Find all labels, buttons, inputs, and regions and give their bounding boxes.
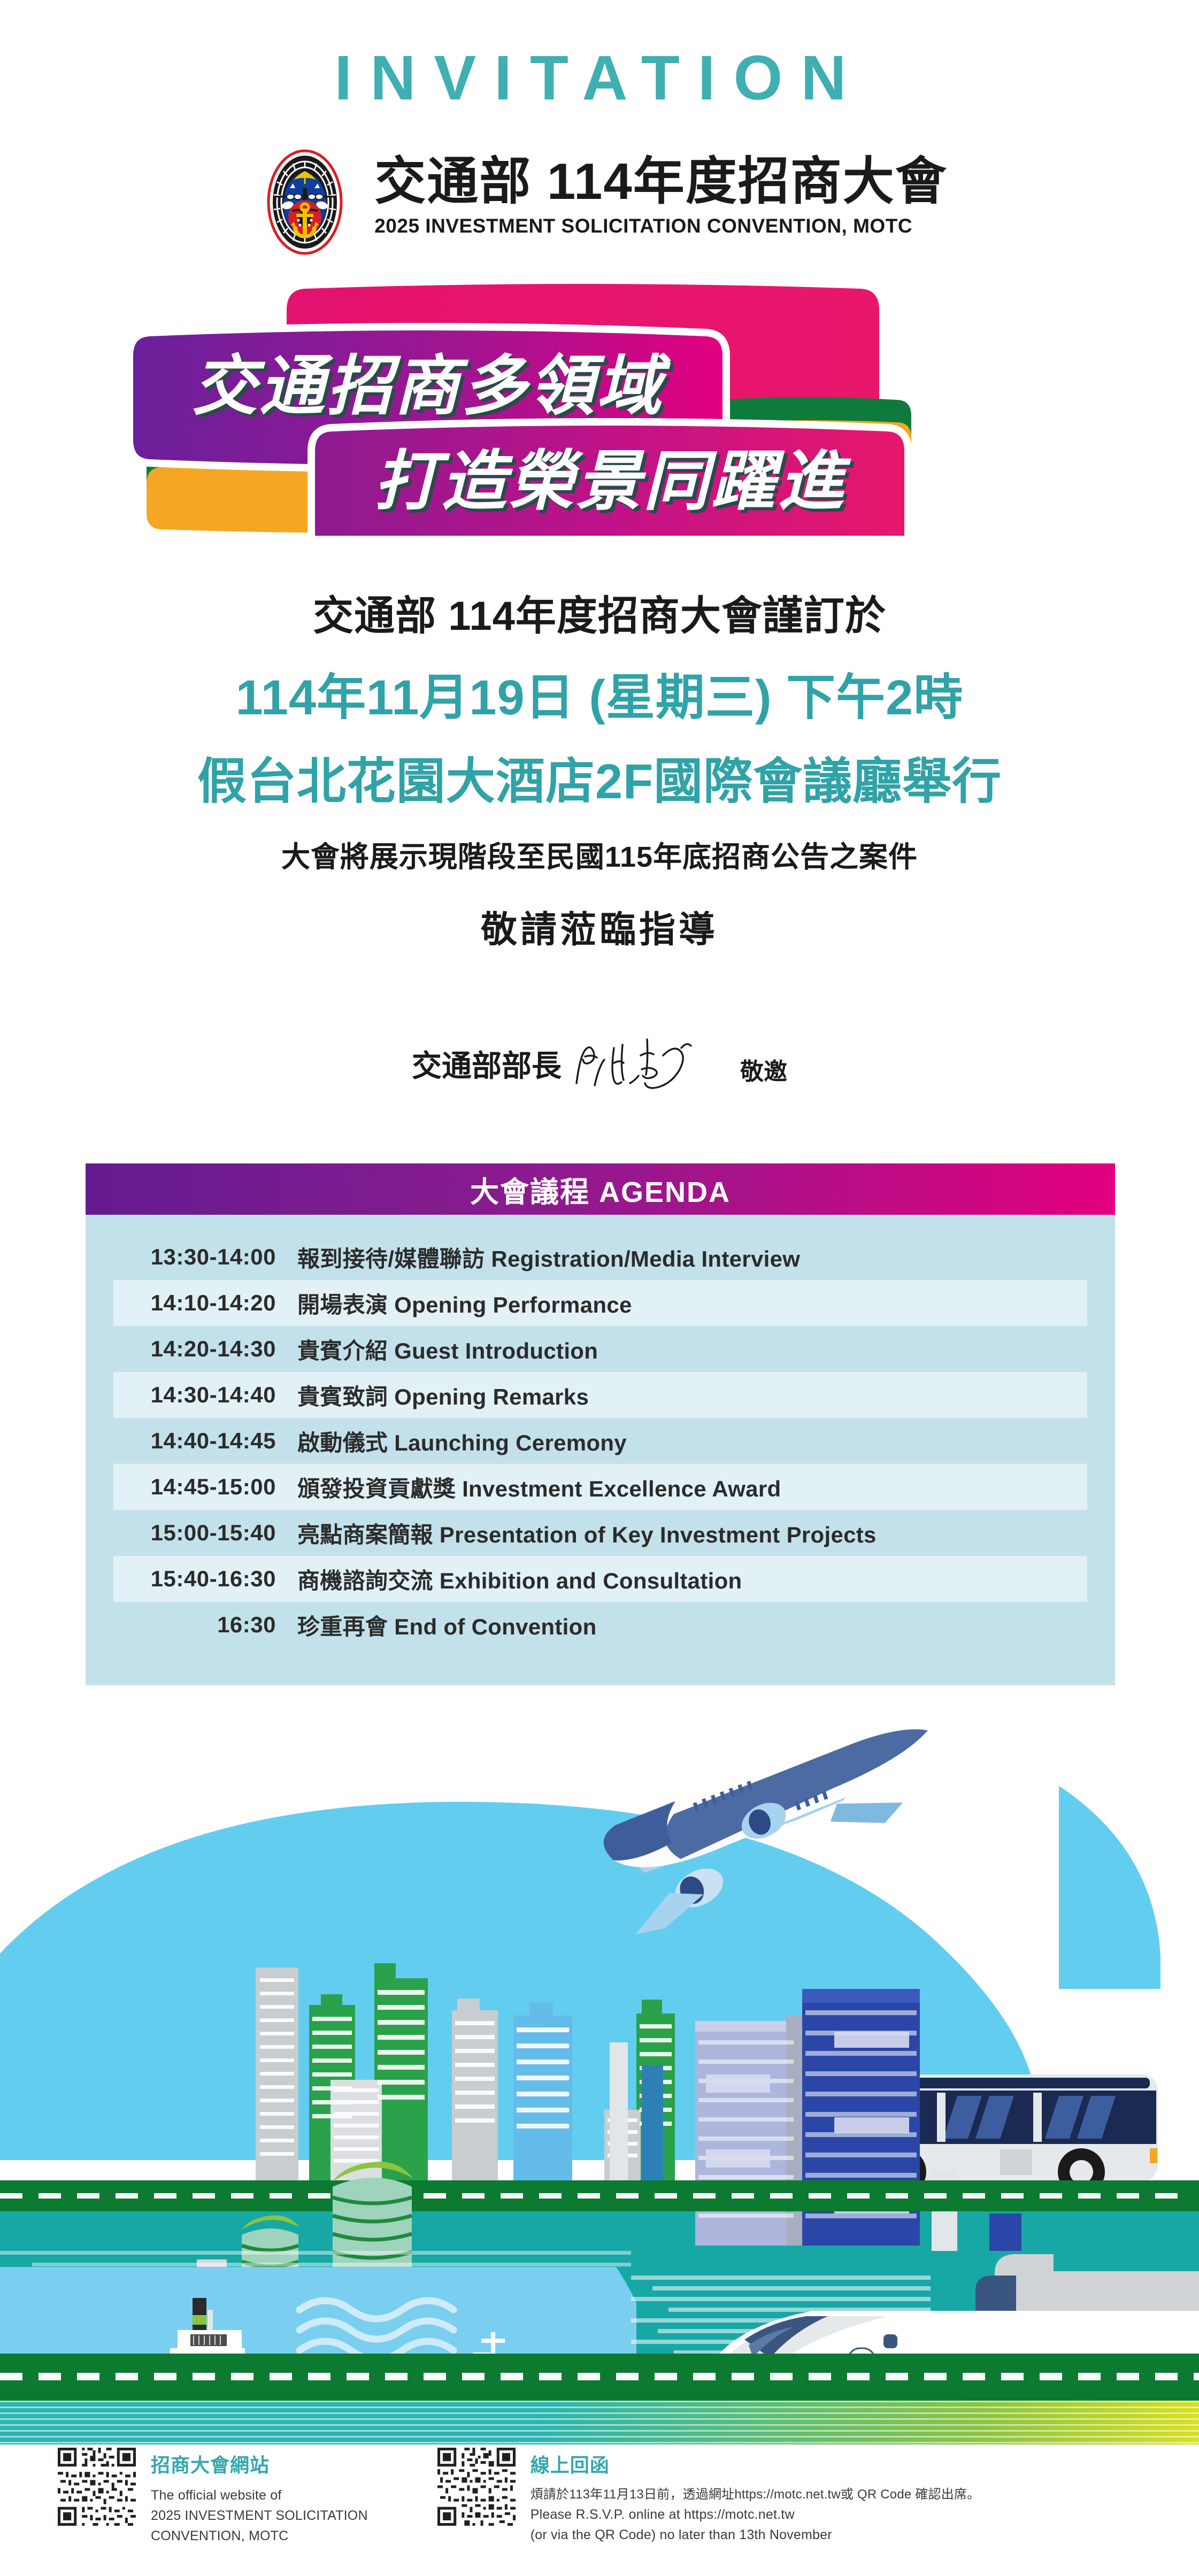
agenda-time: 13:30-14:00 bbox=[86, 1244, 297, 1270]
agenda-desc: 頒發投資貢獻獎 Investment Excellence Award bbox=[297, 1471, 781, 1503]
agenda-row: 14:10-14:20 開場表演 Opening Performance bbox=[113, 1280, 1087, 1326]
agenda-row: 14:30-14:40 貴賓致詞 Opening Remarks bbox=[113, 1372, 1087, 1418]
motc-emblem-icon bbox=[251, 149, 358, 256]
event-welcome: 敬請蒞臨指導 bbox=[0, 900, 1199, 953]
invitation-heading: INVITATION bbox=[0, 42, 1199, 114]
footer-website-line: 2025 INVESTMENT SOLICITATION bbox=[151, 2505, 368, 2526]
minister-signature-block: 交通部部長 敬邀 bbox=[0, 1032, 1199, 1091]
agenda-desc: 報到接待/媒體聯訪 Registration/Media Interview bbox=[297, 1241, 800, 1274]
agenda-row: 16:30 珍重再會 End of Convention bbox=[86, 1602, 1115, 1648]
footer-rsvp-line: 煩請於113年11月13日前，透過網址https://motc.net.tw或 … bbox=[531, 2485, 980, 2504]
agenda-desc: 啟動儀式 Launching Ceremony bbox=[297, 1425, 627, 1457]
org-title: 交通部 114年度招商大會 bbox=[374, 156, 948, 207]
organization-header: 交通部 114年度招商大會 2025 INVESTMENT SOLICITATI… bbox=[0, 149, 1199, 256]
agenda-list: 13:30-14:00 報到接待/媒體聯訪 Registration/Media… bbox=[86, 1215, 1115, 1685]
signature-label: 交通部部長 bbox=[412, 1042, 562, 1091]
event-datetime: 114年11月19日 (星期三) 下午2時 bbox=[0, 658, 1199, 729]
agenda-row: 13:30-14:00 報到接待/媒體聯訪 Registration/Media… bbox=[86, 1234, 1115, 1280]
agenda-desc: 商機諮詢交流 Exhibition and Consultation bbox=[297, 1563, 742, 1595]
event-details: 交通部 114年度招商大會謹訂於 114年11月19日 (星期三) 下午2時 假… bbox=[0, 583, 1199, 953]
slogan-banner: 交通招商多領域 交通招商多領域 打造榮景同躍進 打造榮景同躍進 bbox=[0, 279, 1199, 536]
handwritten-signature-icon bbox=[567, 1032, 727, 1091]
footer-rsvp-line: Please R.S.V.P. online at https://motc.n… bbox=[531, 2504, 980, 2525]
event-intro-line: 交通部 114年度招商大會謹訂於 bbox=[0, 583, 1199, 642]
agenda-desc: 貴賓介紹 Guest Introduction bbox=[297, 1333, 598, 1366]
footer-rsvp-block: 線上回函 煩請於113年11月13日前，透過網址https://motc.net… bbox=[437, 2448, 980, 2546]
agenda-row: 14:40-14:45 啟動儀式 Launching Ceremony bbox=[86, 1418, 1115, 1464]
svg-text:打造榮景同躍進: 打造榮景同躍進 bbox=[374, 445, 851, 518]
footer-website-block: 招商大會網站 The official website of 2025 INVE… bbox=[58, 2448, 368, 2546]
agenda-time: 15:40-16:30 bbox=[113, 1566, 297, 1592]
footer-rsvp-title: 線上回函 bbox=[531, 2450, 980, 2478]
footer-website-line: CONVENTION, MOTC bbox=[151, 2526, 368, 2546]
agenda-title: 大會議程 AGENDA bbox=[470, 1168, 731, 1210]
agenda-desc: 貴賓致詞 Opening Remarks bbox=[297, 1379, 589, 1412]
agenda-row: 14:45-15:00 頒發投資貢獻獎 Investment Excellenc… bbox=[113, 1464, 1087, 1510]
transport-illustration bbox=[0, 1700, 1199, 2401]
footer-website-line: The official website of bbox=[151, 2485, 368, 2505]
agenda-time: 15:00-15:40 bbox=[86, 1520, 297, 1546]
footer-rsvp-line: (or via the QR Code) no later than 13th … bbox=[531, 2525, 980, 2545]
event-note: 大會將展示現階段至民國115年底招商公告之案件 bbox=[0, 833, 1199, 875]
signature-suffix: 敬邀 bbox=[740, 1052, 787, 1091]
org-subtitle: 2025 INVESTMENT SOLICITATION CONVENTION,… bbox=[374, 215, 948, 237]
event-venue: 假台北花園大酒店2F國際會議廳舉行 bbox=[0, 742, 1199, 813]
agenda-header: 大會議程 AGENDA bbox=[86, 1163, 1115, 1215]
agenda-time: 14:20-14:30 bbox=[86, 1336, 297, 1362]
agenda-time: 14:10-14:20 bbox=[113, 1290, 297, 1316]
footer: 招商大會網站 The official website of 2025 INVE… bbox=[0, 2448, 1199, 2546]
agenda-time: 16:30 bbox=[86, 1612, 297, 1638]
agenda-desc: 開場表演 Opening Performance bbox=[297, 1287, 632, 1320]
road-dashes bbox=[0, 2373, 1199, 2380]
bottom-band-lines bbox=[0, 2401, 1199, 2444]
agenda-row: 14:20-14:30 貴賓介紹 Guest Introduction bbox=[86, 1326, 1115, 1372]
rsvp-qr-code-icon[interactable] bbox=[437, 2448, 516, 2526]
footer-website-title: 招商大會網站 bbox=[151, 2450, 368, 2478]
agenda-desc: 亮點商案簡報 Presentation of Key Investment Pr… bbox=[297, 1517, 877, 1549]
agenda-panel: 大會議程 AGENDA 13:30-14:00 報到接待/媒體聯訪 Regist… bbox=[86, 1163, 1115, 1685]
svg-text:交通招商多領域: 交通招商多領域 bbox=[192, 350, 671, 422]
upper-road bbox=[0, 2180, 1199, 2211]
agenda-time: 14:30-14:40 bbox=[113, 1382, 297, 1408]
agenda-row: 15:40-16:30 商機諮詢交流 Exhibition and Consul… bbox=[113, 1556, 1087, 1602]
agenda-time: 14:40-14:45 bbox=[86, 1428, 297, 1454]
agenda-desc: 珍重再會 End of Convention bbox=[297, 1609, 597, 1641]
website-qr-code-icon[interactable] bbox=[58, 2448, 136, 2526]
agenda-row: 15:00-15:40 亮點商案簡報 Presentation of Key I… bbox=[86, 1510, 1115, 1556]
agenda-time: 14:45-15:00 bbox=[113, 1474, 297, 1500]
